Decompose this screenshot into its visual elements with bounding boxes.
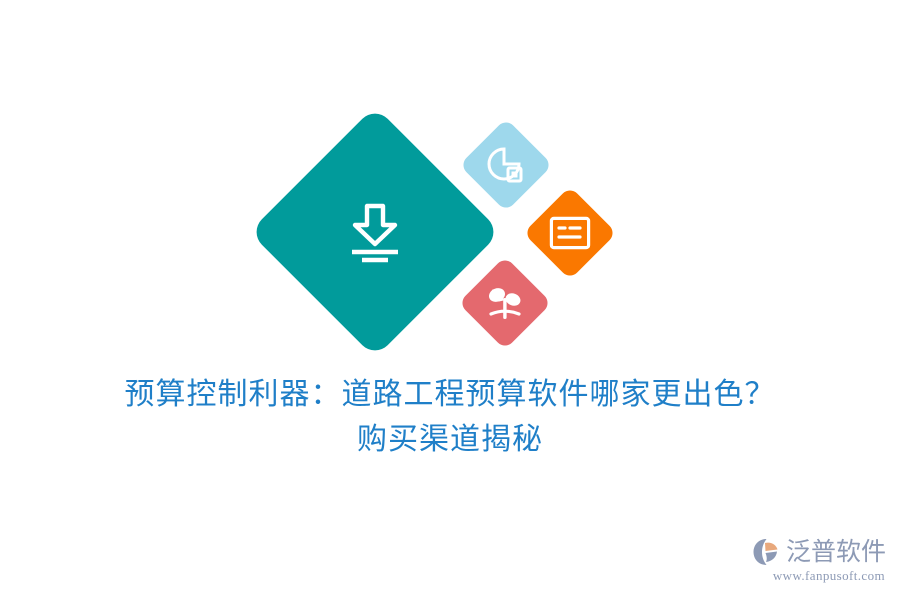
download-icon <box>345 201 405 263</box>
diamond-id-card <box>523 186 616 279</box>
page-title-line-2: 购买渠道揭秘 <box>0 417 900 462</box>
diamond-sprout <box>458 256 551 349</box>
page-title: 预算控制利器：道路工程预算软件哪家更出色？ 购买渠道揭秘 <box>0 372 900 462</box>
fanpu-swoosh-icon <box>752 537 782 567</box>
sprout-icon <box>484 283 526 323</box>
diamond-main-download <box>249 106 501 358</box>
id-card-icon <box>549 216 591 250</box>
brand-logo[interactable]: 泛普软件 www.fanpusoft.com <box>752 537 886 584</box>
page-title-line-1: 预算控制利器：道路工程预算软件哪家更出色？ <box>0 372 900 417</box>
poster-canvas: 预算控制利器：道路工程预算软件哪家更出色？ 购买渠道揭秘 泛普软件 www.fa… <box>0 0 900 600</box>
diamond-pie-chart <box>459 118 552 211</box>
brand-name: 泛普软件 <box>786 538 886 566</box>
pie-chart-icon <box>486 145 526 185</box>
diamond-icon-cluster <box>0 0 900 380</box>
brand-logo-row: 泛普软件 <box>752 537 886 567</box>
brand-url: www.fanpusoft.com <box>773 568 885 584</box>
